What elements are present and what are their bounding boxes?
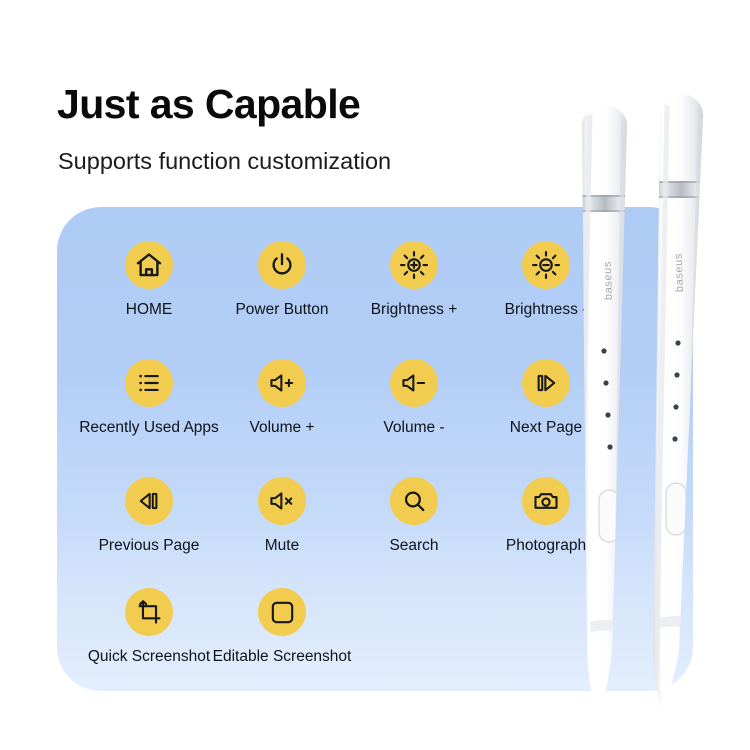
stylus-pen-right: baseus	[650, 95, 712, 712]
brand-text-left: baseus	[602, 261, 615, 300]
page-title: Just as Capable	[57, 84, 360, 125]
mute-icon	[258, 477, 306, 525]
volume-up-icon	[258, 359, 306, 407]
crop-icon	[125, 588, 173, 636]
brand-text-right: baseus	[673, 253, 686, 292]
function-label: Editable Screenshot	[202, 648, 362, 665]
stylus-pen-left: baseus	[575, 105, 635, 715]
page-subtitle: Supports function customization	[58, 150, 391, 174]
function-item-editable-screenshot[interactable]: Editable Screenshot	[202, 588, 362, 665]
previous-page-icon	[125, 477, 173, 525]
volume-down-icon	[390, 359, 438, 407]
list-icon	[125, 359, 173, 407]
power-icon	[258, 241, 306, 289]
brightness-up-icon	[390, 241, 438, 289]
stylus-pens-photo: baseus baseus	[520, 95, 750, 735]
home-icon	[125, 241, 173, 289]
editable-screenshot-icon	[258, 588, 306, 636]
product-feature-banner: Just as Capable Supports function custom…	[0, 0, 750, 750]
search-icon	[390, 477, 438, 525]
